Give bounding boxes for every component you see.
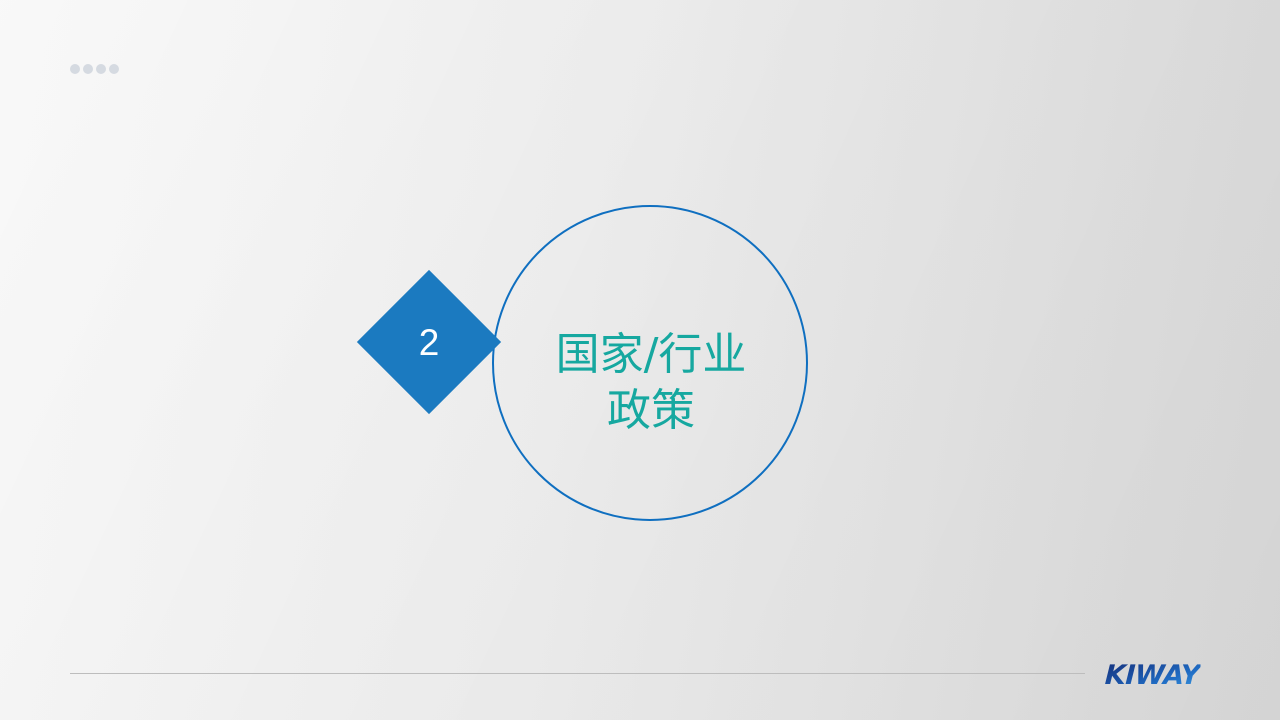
section-number: 2 bbox=[378, 291, 480, 393]
brand-logo: KIWAY bbox=[1105, 660, 1200, 690]
brand-logo-text: KIWAY bbox=[1105, 660, 1201, 691]
page-title: 国家/行业 政策 bbox=[520, 327, 782, 439]
section-divider-graphic: 2 国家/行业 政策 bbox=[0, 0, 1280, 720]
slide-canvas: 2 国家/行业 政策 KIWAY bbox=[0, 0, 1280, 720]
footer-divider bbox=[70, 673, 1085, 674]
